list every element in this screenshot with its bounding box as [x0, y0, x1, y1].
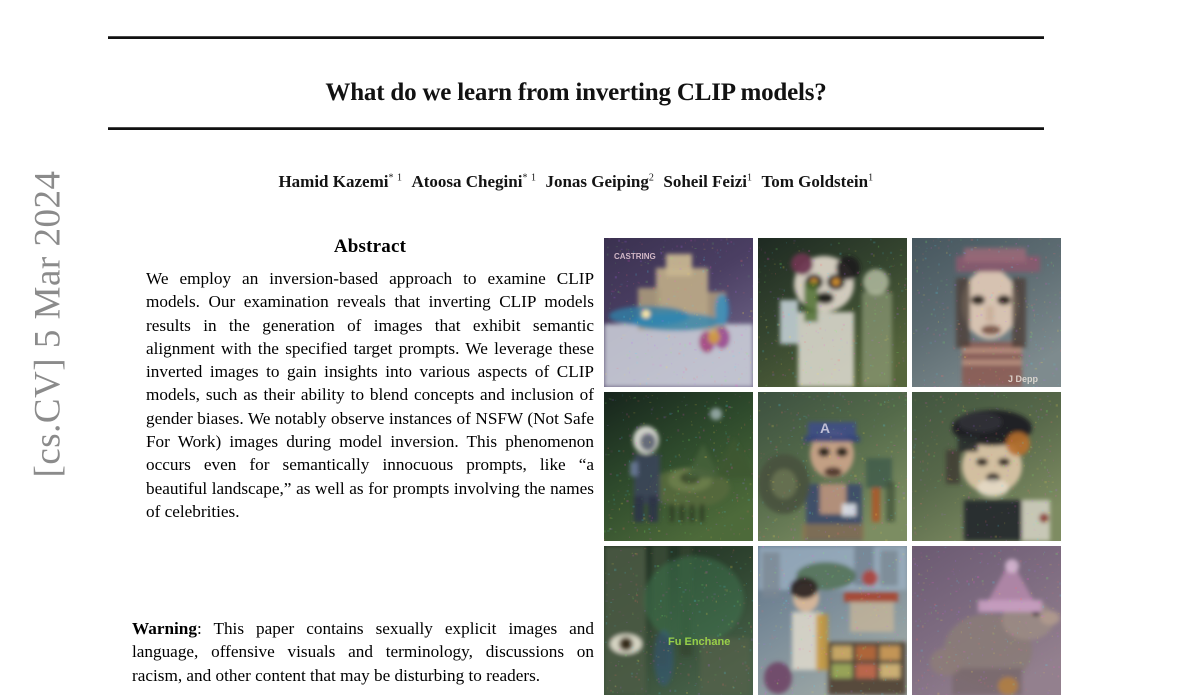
title-rule-bottom: [108, 127, 1044, 130]
arxiv-side-stamp: [cs.CV] 5 Mar 2024: [0, 0, 96, 648]
page-title: What do we learn from inverting CLIP mod…: [108, 79, 1044, 107]
author-name: Soheil Feizi1: [663, 172, 752, 191]
paper-page: What do we learn from inverting CLIP mod…: [96, 0, 1200, 648]
author-affiliation-marker: 1: [747, 172, 753, 183]
abstract-body: We employ an inversion-based approach to…: [146, 267, 594, 523]
author-name: Tom Goldstein1: [761, 172, 873, 191]
author-affiliation-marker: 1: [868, 172, 874, 183]
author-name: Jonas Geiping2: [545, 172, 654, 191]
title-rule-top: [108, 36, 1044, 39]
figure-tile-dog-beret: [912, 392, 1061, 541]
figure-tile-portrait-hat: J Depp: [912, 238, 1061, 387]
figure-tile-bird-wizard-hat: [912, 546, 1061, 695]
figure-tile-astronaut-ufo: [604, 392, 753, 541]
figure-tile-market-stall: [758, 546, 907, 695]
warning-label: Warning: [132, 619, 197, 638]
teaser-figure-grid: CASTRINGJ DeppAFu Enchane: [604, 238, 1060, 695]
figure-tile-castle-balloons: CASTRING: [604, 238, 753, 387]
author-affiliation-marker: * 1: [388, 172, 402, 183]
figure-tile-panda-scientist: [758, 238, 907, 387]
author-list: Hamid Kazemi* 1Atoosa Chegini* 1Jonas Ge…: [108, 172, 1044, 192]
warning-text: : This paper contains sexually explicit …: [132, 619, 594, 685]
figure-tile-mechanic-cap: A: [758, 392, 907, 541]
figure-tile-forest-eye: Fu Enchane: [604, 546, 753, 695]
author-affiliation-marker: * 1: [522, 172, 536, 183]
arxiv-stamp-text: [cs.CV] 5 Mar 2024: [27, 170, 70, 477]
author-name: Atoosa Chegini* 1: [411, 172, 536, 191]
abstract-heading: Abstract: [146, 236, 594, 258]
abstract-column: Abstract We employ an inversion-based ap…: [146, 236, 594, 523]
author-affiliation-marker: 2: [649, 172, 655, 183]
warning-note: Warning: This paper contains sexually ex…: [132, 617, 594, 687]
author-name: Hamid Kazemi* 1: [278, 172, 402, 191]
